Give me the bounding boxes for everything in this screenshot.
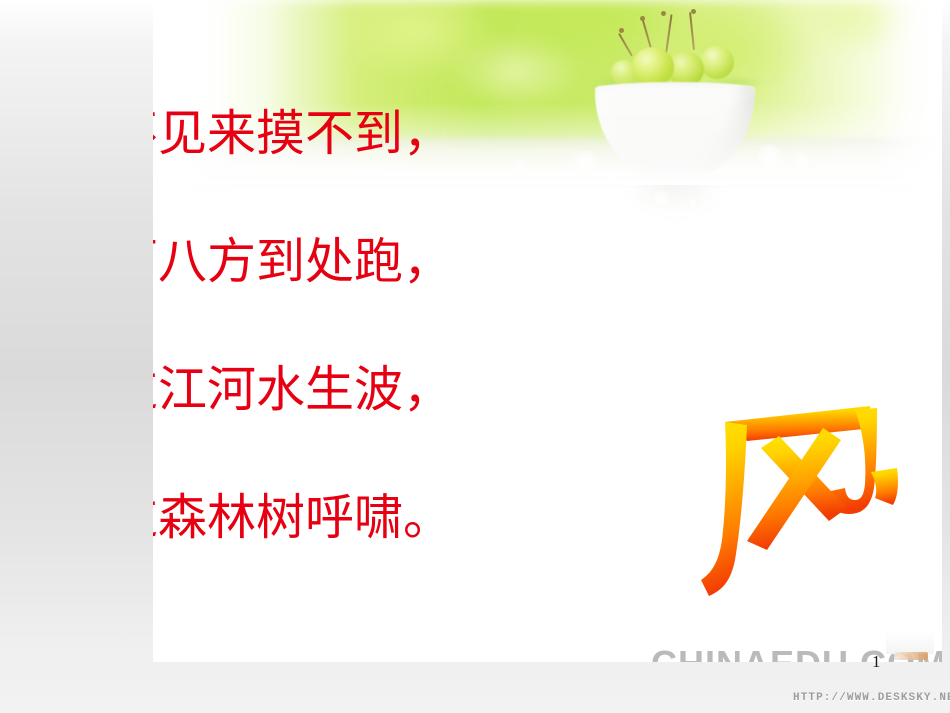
corner-sticker-background — [886, 632, 934, 654]
page-number: 1 — [872, 652, 881, 672]
riddle-line-2: 四面八方到处跑， — [153, 198, 620, 326]
presentation-viewer: 看不见来摸不到， 四面八方到处跑， 跑过江河水生波， 穿过森林树呼啸。 — [0, 0, 950, 713]
riddle-text-block: 看不见来摸不到， 四面八方到处跑， 跑过江河水生波， 穿过森林树呼啸。 — [153, 70, 620, 582]
riddle-line-3: 跑过江河水生波， — [153, 326, 620, 454]
corner-sticker-icon — [894, 652, 928, 660]
answer-character-feng — [695, 384, 925, 609]
riddle-line-1: 看不见来摸不到， — [153, 70, 620, 198]
riddle-line-4: 穿过森林树呼啸。 — [153, 454, 620, 582]
slide-canvas[interactable]: 看不见来摸不到， 四面八方到处跑， 跑过江河水生波， 穿过森林树呼啸。 — [153, 0, 942, 662]
site-watermark: HTTP://WWW.DESKSKY.NET — [793, 692, 950, 704]
